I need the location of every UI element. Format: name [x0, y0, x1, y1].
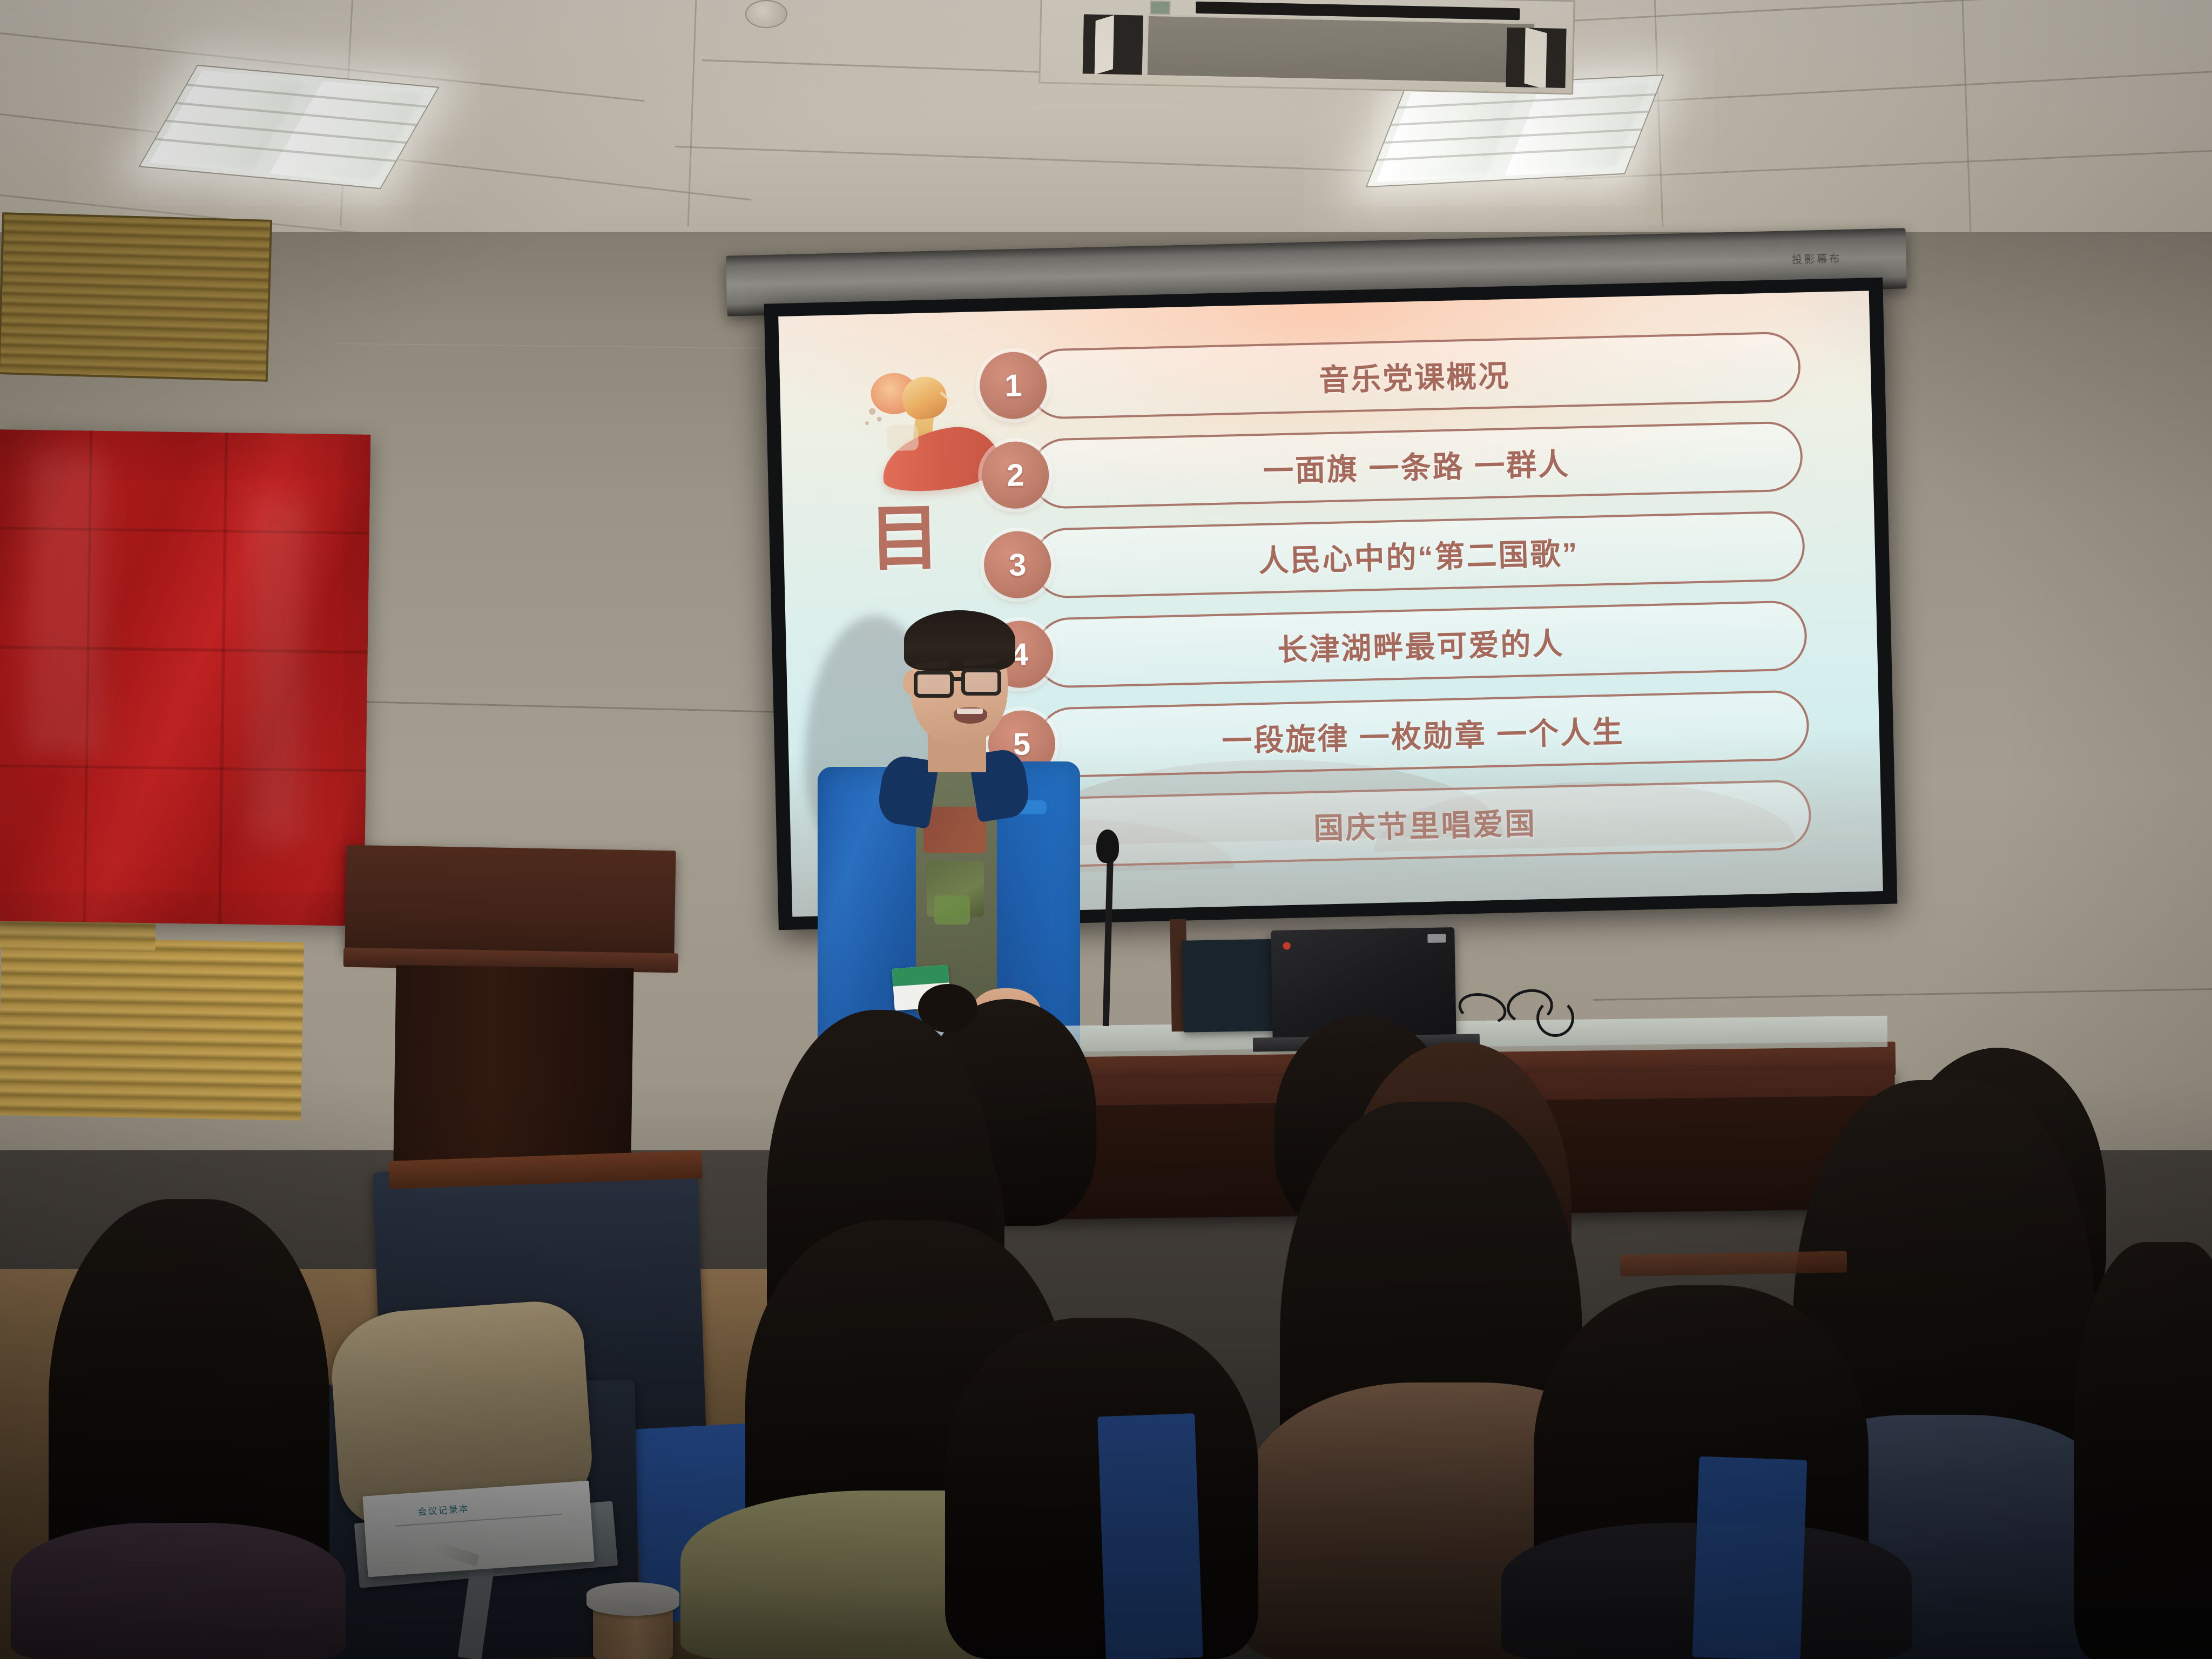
smoke-detector	[745, 0, 787, 28]
toc-pill-3: 人民心中的“第二国歌”	[1032, 510, 1806, 599]
screen-brand-label: 投影幕布	[1791, 249, 1842, 266]
cable	[1536, 999, 1574, 1037]
toc-row-3[interactable]: 人民心中的“第二国歌” 3	[983, 505, 1854, 604]
toc-row-4[interactable]: 长津湖畔最可爱的人 4	[985, 595, 1856, 694]
toc-label-1: 音乐党课概况	[1318, 352, 1510, 400]
toc-label-4: 长津湖畔最可爱的人	[1277, 619, 1564, 669]
glasses-left-lens	[914, 671, 954, 698]
glasses-right-lens	[961, 669, 1001, 696]
toc-pill-6: 国庆节里唱爱国	[1038, 779, 1812, 868]
toc-row-5[interactable]: 一段旋律 一枚勋章 一个人生 5	[987, 684, 1858, 784]
teeth	[957, 709, 983, 714]
audience-member	[2074, 1242, 2212, 1659]
wooden-podium-top	[345, 845, 676, 959]
hair	[904, 610, 1015, 671]
red-fabric-banner	[0, 429, 370, 926]
wall-slat-panel-upper	[0, 212, 272, 382]
glasses-bridge	[953, 677, 963, 681]
notebook[interactable]: 会议记录本	[362, 1481, 594, 1577]
seat-frame	[1692, 1456, 1808, 1659]
toc-pill-5: 一段旋律 一枚勋章 一个人生	[1036, 690, 1810, 778]
toc-label-2: 一面旗 一条路 一群人	[1263, 440, 1570, 490]
slide-toc-list: 音乐党课概况 1 一面旗 一条路 一群人 2 人民心中的“第二国歌”	[979, 314, 1861, 896]
slide-heading-char: 目	[868, 503, 941, 576]
toc-row-1[interactable]: 音乐党课概况 1	[979, 326, 1850, 425]
audience-member-body	[11, 1523, 346, 1659]
toc-label-6: 国庆节里唱爱国	[1313, 799, 1537, 848]
toc-label-3: 人民心中的“第二国歌”	[1258, 529, 1580, 581]
toc-pill-2: 一面旗 一条路 一群人	[1030, 421, 1804, 509]
toc-row-2[interactable]: 一面旗 一条路 一群人 2	[981, 415, 1852, 515]
notebook-logo: 会议记录本	[417, 1501, 470, 1518]
lecture-hall-photo: 投影幕布 目	[0, 0, 2212, 1659]
wall-slat-panel-lower	[0, 937, 304, 1121]
seat-frame	[1097, 1413, 1203, 1659]
toc-pill-4: 长津湖畔最可爱的人	[1034, 600, 1808, 689]
coffee-cup-lid	[586, 1582, 679, 1616]
toc-label-5: 一段旋律 一枚勋章 一个人生	[1221, 707, 1624, 761]
toc-pill-1: 音乐党课概况	[1028, 331, 1802, 420]
ceiling-ac-cassette	[1038, 0, 1575, 95]
microphone-head	[1096, 829, 1119, 863]
toc-row-6[interactable]: 国庆节里唱爱国	[989, 774, 1860, 873]
seat-wood-trim	[1620, 1251, 1847, 1276]
